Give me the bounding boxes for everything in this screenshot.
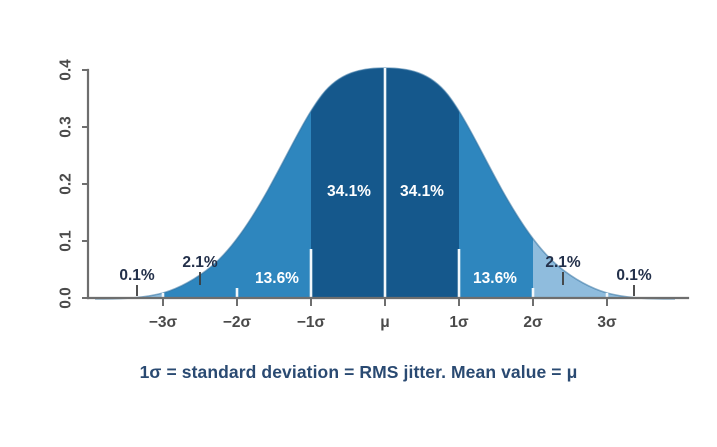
density-bands [60,50,698,305]
x-axis-label-plus1sigma: 1σ [449,314,469,331]
x-axis-label-minus1sigma: −1σ [297,314,326,331]
y-axis-label-0.4: 0.4 [58,59,75,81]
band-label-minus1sigma-to-mean: 34.1% [327,183,371,200]
y-axis-label-0.1: 0.1 [58,230,75,252]
tail-label-right-2.1: 2.1% [545,254,581,271]
band-label-minus2sigma-to-minus1sigma: 13.6% [255,270,299,287]
x-axis-label-plus3sigma: 3σ [597,314,617,331]
x-axis-label-plus2sigma: 2σ [523,314,543,331]
chart-caption: 1σ = standard deviation = RMS jitter. Me… [0,362,717,383]
x-axis-label-minus2sigma: −2σ [223,314,252,331]
tail-label-left-2.1: 2.1% [182,254,218,271]
y-axis-label-0.2: 0.2 [58,173,75,195]
x-axis-label-mean: μ [380,314,389,331]
x-axis-ticks [163,298,607,306]
band-minus1-to-mean [311,50,386,305]
y-axis-label-0.0: 0.0 [58,287,75,309]
normal-distribution-chart: 0.4 0.3 0.2 0.1 0.0 −3σ −2σ −1σ μ 1σ 2σ … [0,0,717,447]
band-label-plus1sigma-to-plus2sigma: 13.6% [473,270,517,287]
tail-label-right-0.1: 0.1% [616,267,652,284]
band-label-mean-to-plus1sigma: 34.1% [400,183,444,200]
tail-label-left-0.1: 0.1% [119,267,155,284]
x-axis-labels: −3σ −2σ −1σ μ 1σ 2σ 3σ [149,314,617,331]
x-axis-label-minus3sigma: −3σ [149,314,178,331]
y-axis-label-0.3: 0.3 [58,116,75,138]
band-mean-to-plus1 [386,50,459,305]
y-axis-labels: 0.4 0.3 0.2 0.1 0.0 [58,59,75,309]
